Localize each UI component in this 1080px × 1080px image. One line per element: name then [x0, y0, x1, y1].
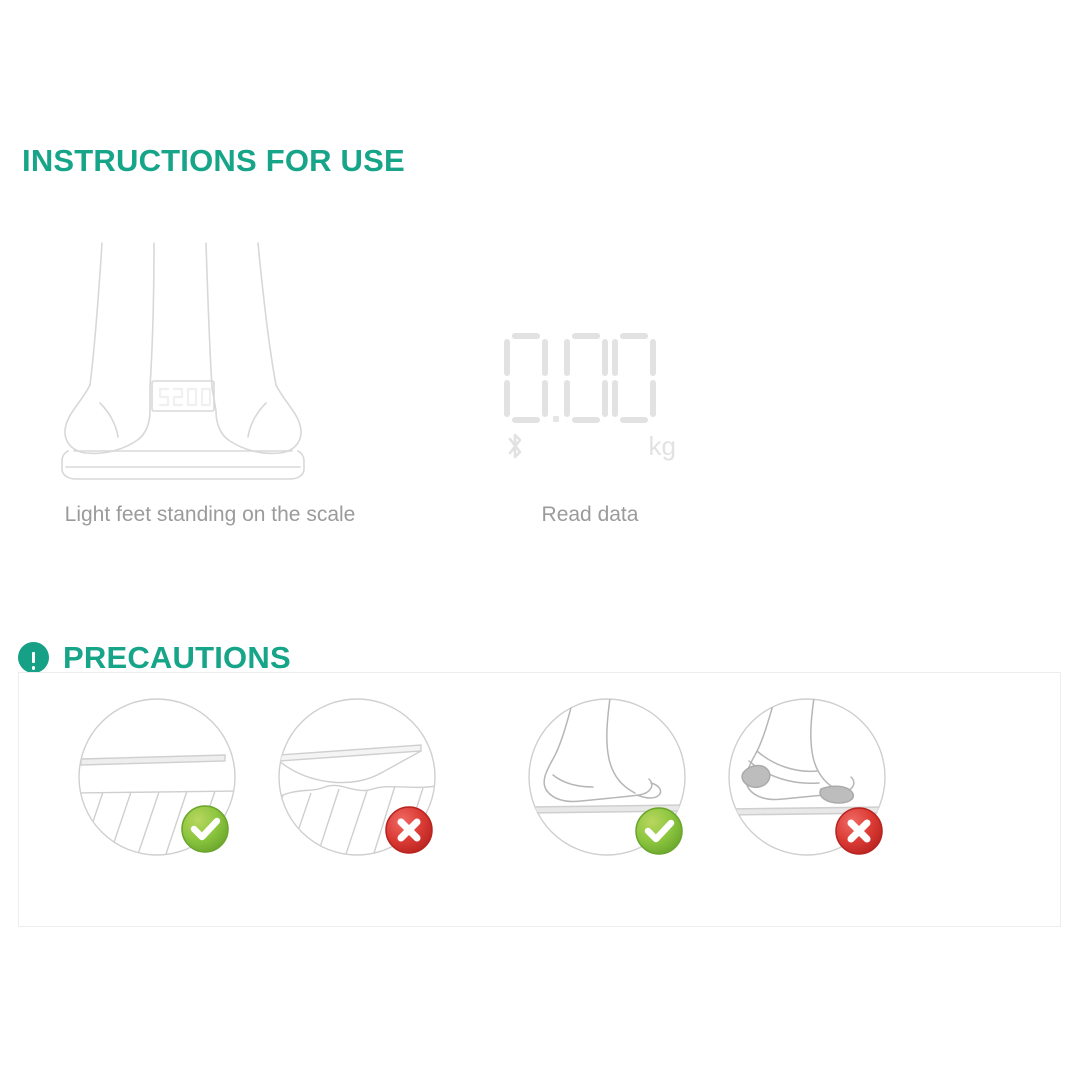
- cross-circle-icon: [386, 807, 432, 853]
- check-circle-icon: [636, 808, 682, 854]
- instruction-step-caption: Read data: [420, 503, 760, 527]
- instruction-step-feet-on-scale: Light feet standing on the scale: [40, 235, 380, 527]
- lcd-decimal-point: [553, 416, 559, 422]
- bluetooth-icon: [504, 431, 526, 461]
- lcd-display-illustration: kg: [420, 235, 760, 485]
- lcd-digit: [504, 333, 548, 423]
- lcd-digit: [564, 333, 608, 423]
- precaution-item-hard-flat-floor: [69, 689, 259, 879]
- lcd-status-row: kg: [504, 431, 676, 461]
- lcd-panel: kg: [490, 285, 690, 485]
- faint-watermark: [170, 524, 176, 550]
- feet-on-scale-illustration: [40, 235, 380, 485]
- precautions-title: PRECAUTIONS: [63, 640, 291, 676]
- lcd-digit: [612, 333, 656, 423]
- instruction-step-read-data: kg Read data: [420, 235, 760, 527]
- instruction-step-caption: Light feet standing on the scale: [40, 503, 380, 527]
- lcd-unit-label: kg: [649, 433, 676, 459]
- precaution-item-soft-uneven-floor: [269, 689, 459, 879]
- page-title: INSTRUCTIONS FOR USE: [22, 143, 405, 179]
- precautions-panel: [18, 672, 1061, 927]
- exclamation-circle-icon: [18, 642, 49, 673]
- cross-circle-icon: [836, 808, 882, 854]
- precaution-item-bare-foot: [519, 689, 709, 879]
- lcd-value: [504, 333, 656, 423]
- precaution-item-sock-covered-foot: [719, 689, 909, 879]
- check-circle-icon: [182, 806, 228, 852]
- instruction-steps: Light feet standing on the scale: [0, 235, 1080, 555]
